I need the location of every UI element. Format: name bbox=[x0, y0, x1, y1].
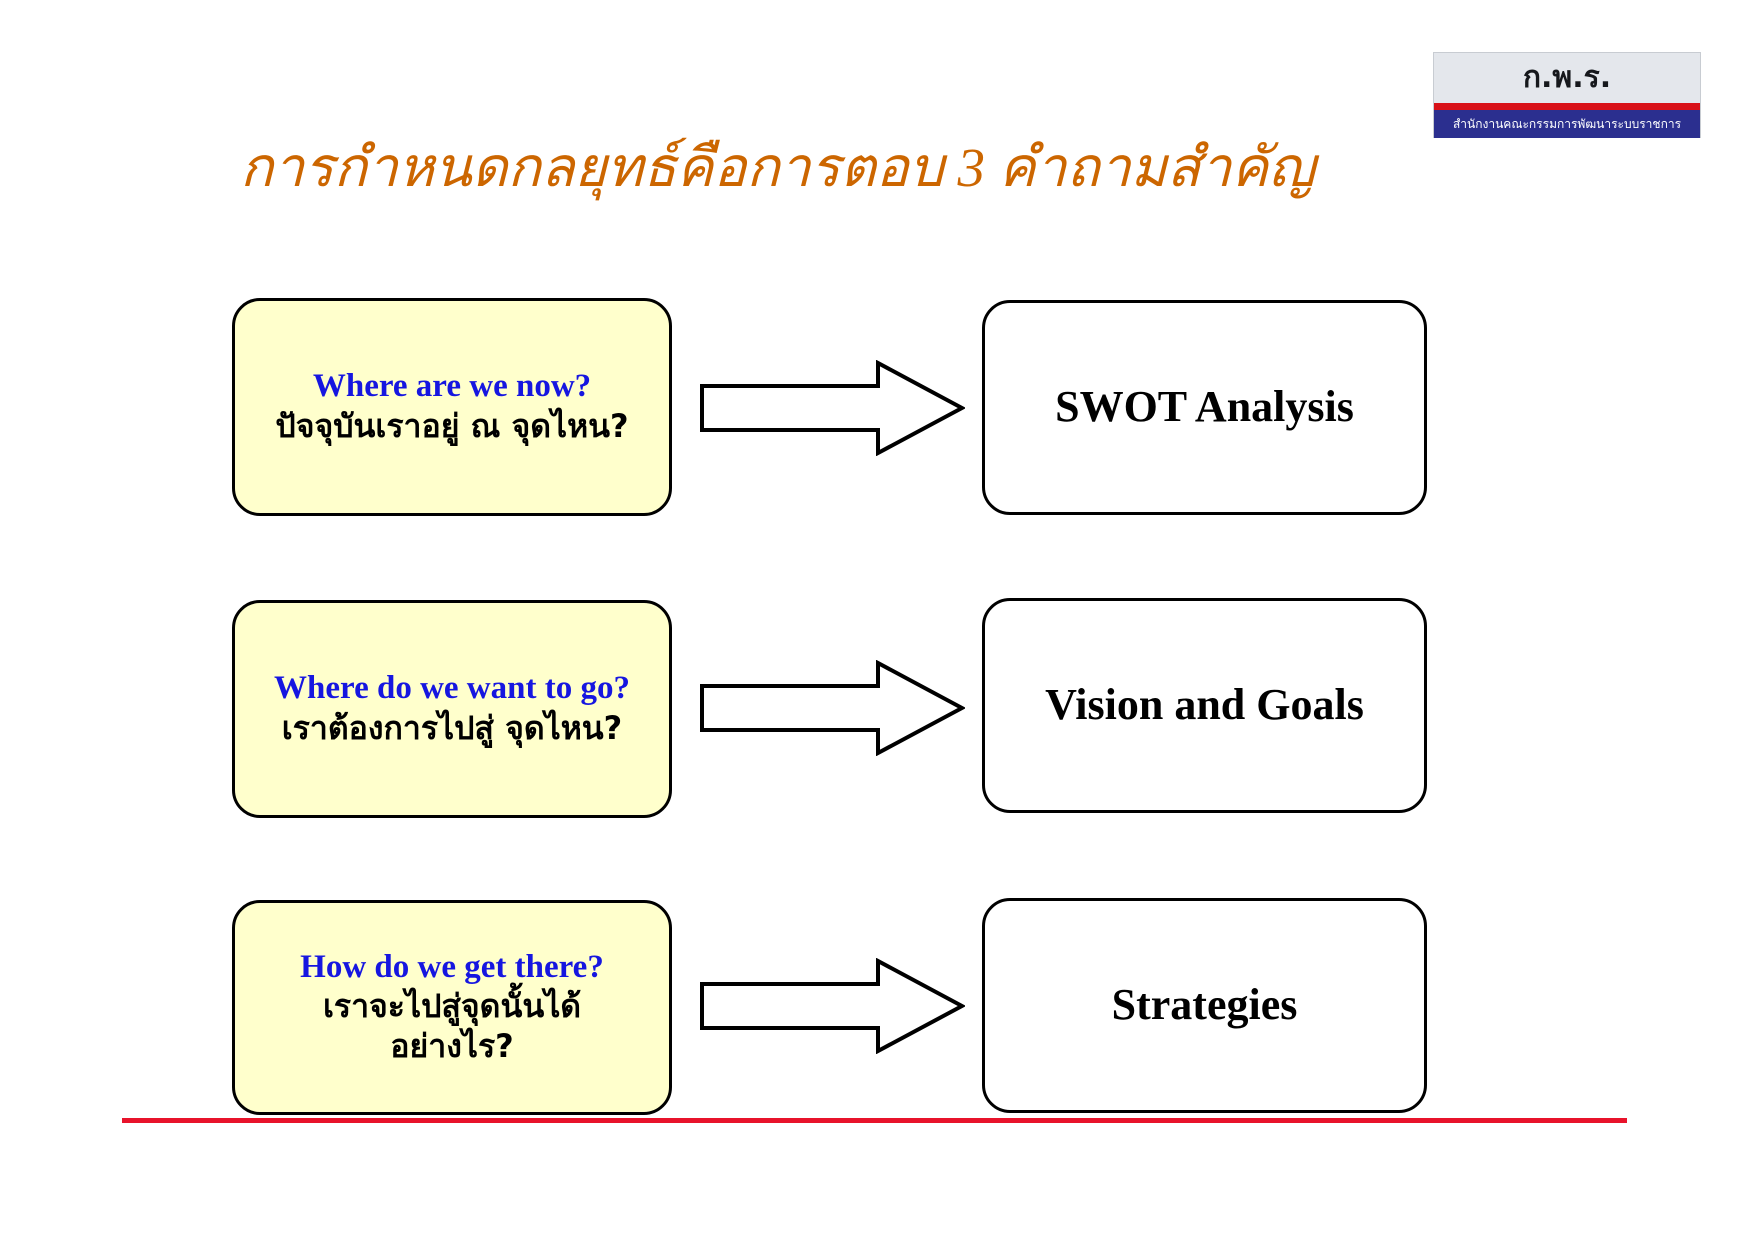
answer-label-1: SWOT Analysis bbox=[1055, 383, 1354, 431]
footer-divider bbox=[122, 1118, 1627, 1123]
logo-abbreviation-band: ก.พ.ร. bbox=[1434, 53, 1700, 103]
question-thai-3-line-1: เราจะไปสู่จุดนั้นได้ bbox=[323, 986, 581, 1026]
logo-name-band: สำนักงานคณะกรรมการพัฒนาระบบราชการ bbox=[1434, 110, 1700, 138]
question-box-3: How do we get there? เราจะไปสู่จุดนั้นได… bbox=[232, 900, 672, 1115]
flow-arrow-2 bbox=[700, 660, 965, 756]
question-english-3: How do we get there? bbox=[300, 949, 604, 987]
page-title: การกำหนดกลยุทธ์คือการตอบ 3 คำถามสำคัญ bbox=[240, 138, 1420, 199]
answer-label-2: Vision and Goals bbox=[1045, 681, 1364, 729]
flow-arrow-3 bbox=[700, 958, 965, 1054]
question-thai-3-line-2: อย่างไร? bbox=[390, 1026, 513, 1066]
question-box-1: Where are we now? ปัจจุบันเราอยู่ ณ จุดไ… bbox=[232, 298, 672, 516]
answer-box-3: Strategies bbox=[982, 898, 1427, 1113]
logo-abbreviation-text: ก.พ.ร. bbox=[1523, 63, 1611, 93]
logo-red-band bbox=[1434, 103, 1700, 110]
answer-box-2: Vision and Goals bbox=[982, 598, 1427, 813]
question-english-2: Where do we want to go? bbox=[274, 670, 630, 708]
answer-label-3: Strategies bbox=[1112, 981, 1298, 1029]
arrow-right-icon bbox=[700, 660, 965, 756]
question-thai-1-line-1: ปัจจุบันเราอยู่ ณ จุดไหน? bbox=[275, 406, 628, 446]
question-box-2: Where do we want to go? เราต้องการไปสู่ … bbox=[232, 600, 672, 818]
organization-logo: ก.พ.ร. สำนักงานคณะกรรมการพัฒนาระบบราชการ bbox=[1433, 52, 1701, 138]
flow-arrow-1 bbox=[700, 360, 965, 456]
question-thai-2-line-1: เราต้องการไปสู่ จุดไหน? bbox=[282, 708, 622, 748]
question-english-1: Where are we now? bbox=[313, 368, 591, 406]
arrow-right-icon bbox=[700, 958, 965, 1054]
arrow-right-icon bbox=[700, 360, 965, 456]
answer-box-1: SWOT Analysis bbox=[982, 300, 1427, 515]
logo-full-name-text: สำนักงานคณะกรรมการพัฒนาระบบราชการ bbox=[1453, 118, 1681, 130]
